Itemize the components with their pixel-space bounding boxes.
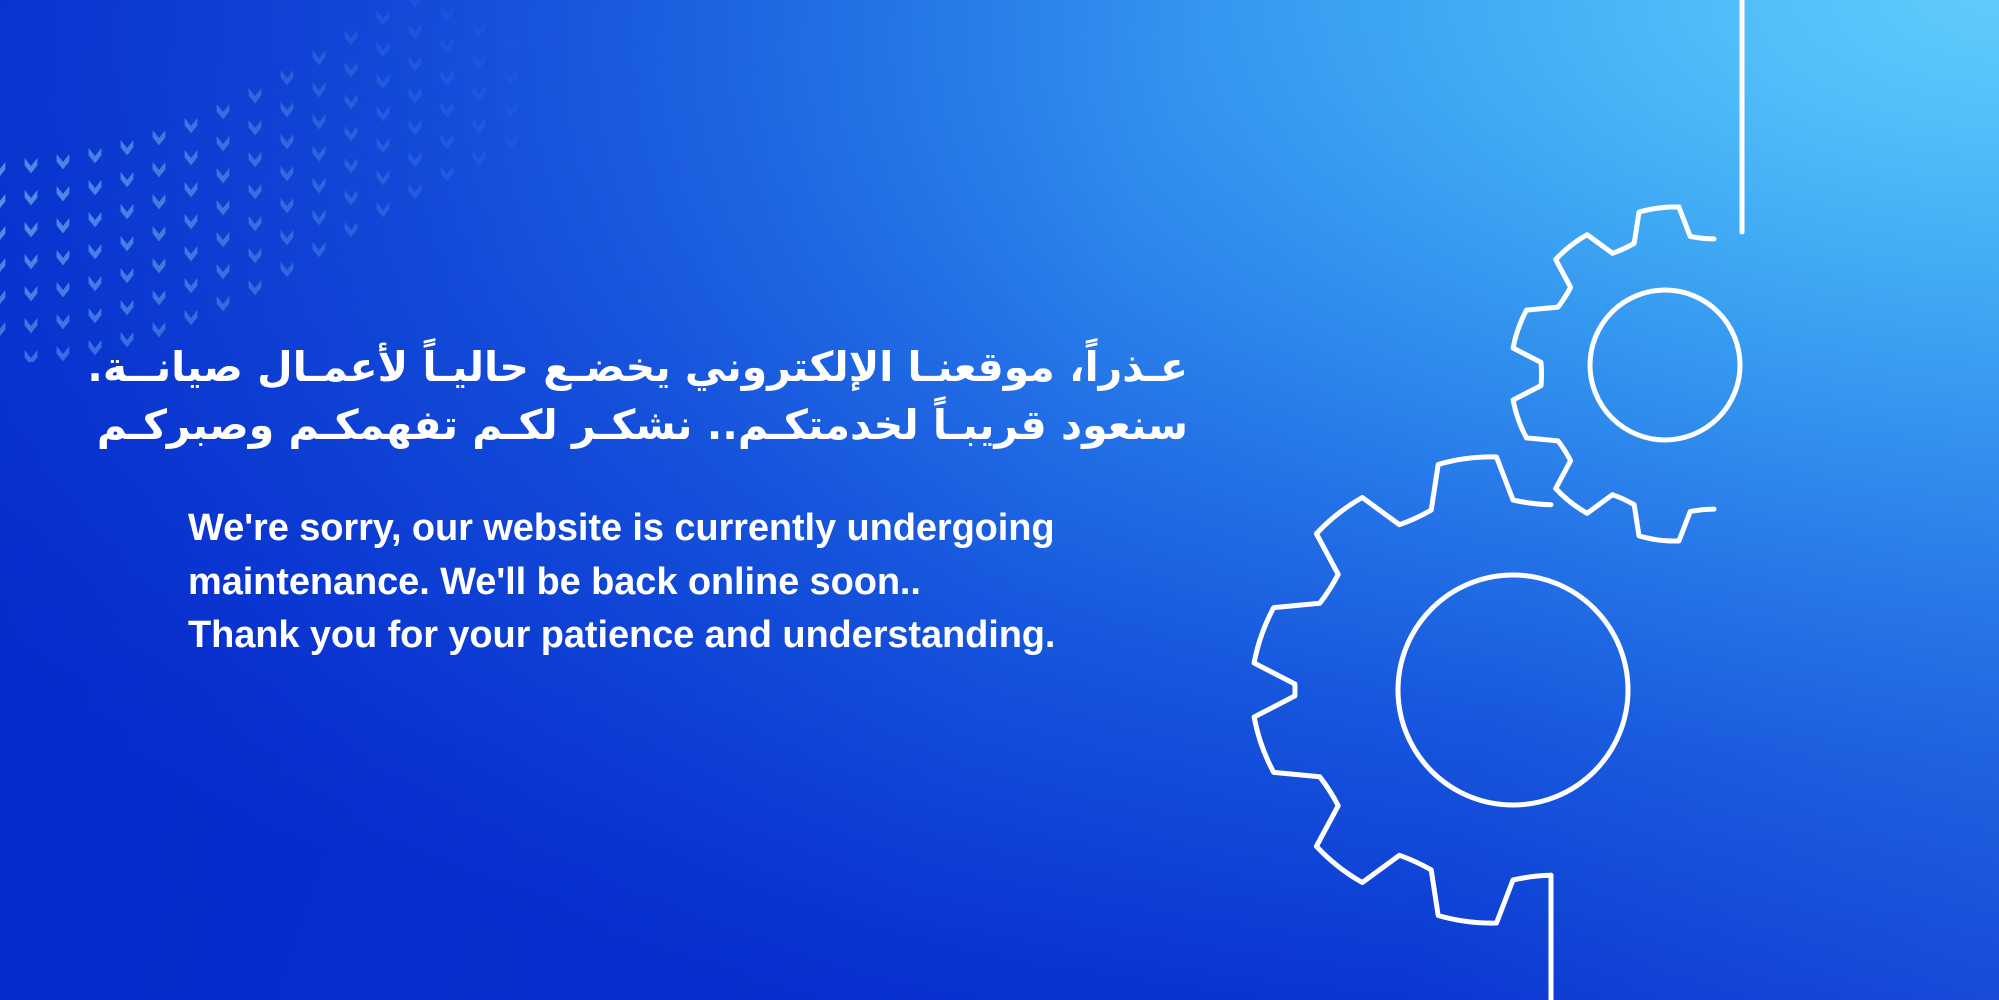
english-line-1: We're sorry, our website is currently un… [188, 502, 1188, 555]
arabic-message: عـذراً، موقعنـا الإلكتروني يخضـع حاليـاً… [188, 338, 1188, 454]
arabic-line-2: سنعود قريبـاً لخدمتكـم.. نشكـر لكـم تفهم… [188, 396, 1188, 454]
english-line-3: Thank you for your patience and understa… [188, 609, 1188, 662]
english-line-2: maintenance. We'll be back online soon.. [188, 556, 1188, 609]
english-message: We're sorry, our website is currently un… [188, 502, 1188, 662]
maintenance-page: عـذراً، موقعنـا الإلكتروني يخضـع حاليـاً… [0, 0, 1999, 1000]
arabic-line-1: عـذراً، موقعنـا الإلكتروني يخضـع حاليـاً… [188, 338, 1188, 396]
maintenance-message: عـذراً، موقعنـا الإلكتروني يخضـع حاليـاً… [188, 338, 1188, 662]
